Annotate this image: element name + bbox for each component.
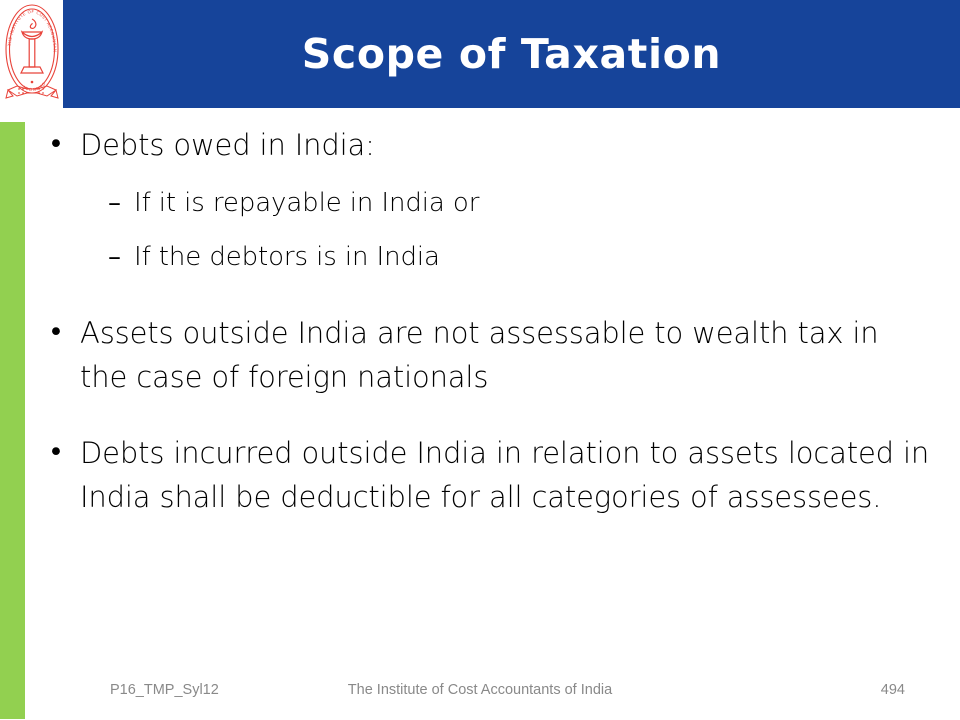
- sub-bullet-item: – If the debtors is in India: [48, 235, 933, 279]
- content-body: • Debts owed in India: – If it is repaya…: [48, 123, 933, 643]
- sub-bullet-marker: –: [108, 181, 134, 225]
- bullet-marker: •: [48, 123, 80, 167]
- sub-bullet-item: – If it is repayable in India or: [48, 181, 933, 225]
- sub-bullet-marker: –: [108, 235, 134, 279]
- svg-text:OF INDIA: OF INDIA: [22, 81, 46, 92]
- spacer: [48, 289, 933, 311]
- sub-bullet-text: If the debtors is in India: [134, 235, 933, 279]
- page-title: Scope of Taxation: [63, 0, 960, 108]
- bullet-marker: •: [48, 431, 80, 475]
- bullet-text: Debts owed in India:: [80, 123, 933, 167]
- institute-logo: THE INSTITUTE OF COST ACCOUNTANTS OF IND…: [2, 2, 62, 110]
- footer-organization: The Institute of Cost Accountants of Ind…: [0, 675, 960, 705]
- bullet-text: Assets outside India are not assessable …: [80, 311, 933, 399]
- spacer: [48, 413, 933, 431]
- slide: Scope of Taxation THE INSTITUTE OF COST …: [0, 0, 960, 720]
- left-accent-bar: [0, 122, 25, 719]
- slide-footer: P16_TMP_Syl12 The Institute of Cost Acco…: [0, 675, 960, 705]
- bullet-item: • Debts owed in India:: [48, 123, 933, 167]
- footer-page-number: 494: [881, 675, 905, 705]
- bullet-item: • Debts incurred outside India in relati…: [48, 431, 933, 519]
- sub-bullet-text: If it is repayable in India or: [134, 181, 933, 225]
- bullet-marker: •: [48, 311, 80, 355]
- bullet-item: • Assets outside India are not assessabl…: [48, 311, 933, 399]
- bullet-text: Debts incurred outside India in relation…: [80, 431, 933, 519]
